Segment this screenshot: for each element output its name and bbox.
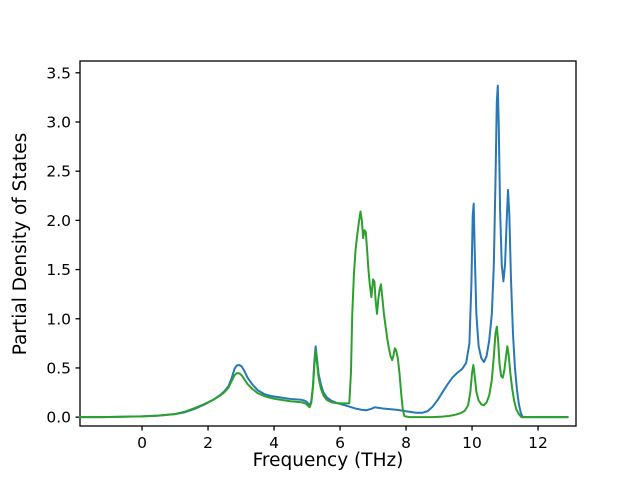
y-tick-label: 0.0 xyxy=(46,409,71,427)
y-tick-label: 2.0 xyxy=(46,212,71,230)
x-tick-label: 10 xyxy=(462,434,482,452)
y-tick-label: 1.0 xyxy=(46,310,71,328)
x-tick-label: 0 xyxy=(137,434,147,452)
x-tick-label: 2 xyxy=(203,434,213,452)
y-tick-label: 3.5 xyxy=(46,64,71,82)
y-tick-label: 3.0 xyxy=(46,113,71,131)
x-tick-label: 12 xyxy=(528,434,548,452)
figure-canvas: 024681012 0.00.51.01.52.02.53.03.5 Frequ… xyxy=(0,0,640,480)
plot-background xyxy=(0,0,640,480)
x-axis-title: Frequency (THz) xyxy=(253,450,404,471)
y-axis-title: Partial Density of States xyxy=(10,133,31,356)
pdos-line-chart: 024681012 0.00.51.01.52.02.53.03.5 Frequ… xyxy=(0,0,640,480)
y-tick-label: 0.5 xyxy=(46,359,71,377)
y-tick-label: 1.5 xyxy=(46,261,71,279)
y-tick-label: 2.5 xyxy=(46,163,71,181)
